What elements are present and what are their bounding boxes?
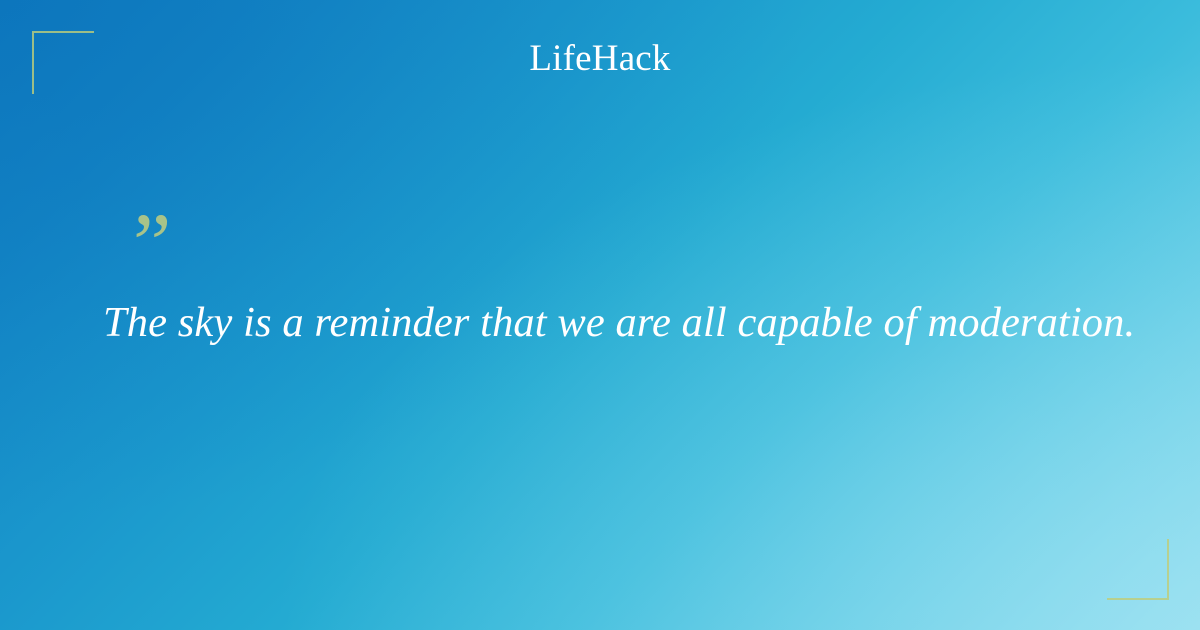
quote-block: ” The sky is a reminder that we are all … bbox=[103, 218, 1113, 348]
corner-bracket-bottom-right-icon bbox=[1107, 539, 1169, 600]
quotation-mark-icon: ” bbox=[133, 218, 1113, 270]
card-content: LifeHack ” The sky is a reminder that we… bbox=[0, 0, 1200, 630]
corner-bracket-top-left-icon bbox=[32, 31, 94, 94]
quote-text: The sky is a reminder that we are all ca… bbox=[103, 298, 1113, 348]
quote-card: LifeHack ” The sky is a reminder that we… bbox=[0, 0, 1200, 630]
brand-logo: LifeHack bbox=[0, 40, 1200, 77]
